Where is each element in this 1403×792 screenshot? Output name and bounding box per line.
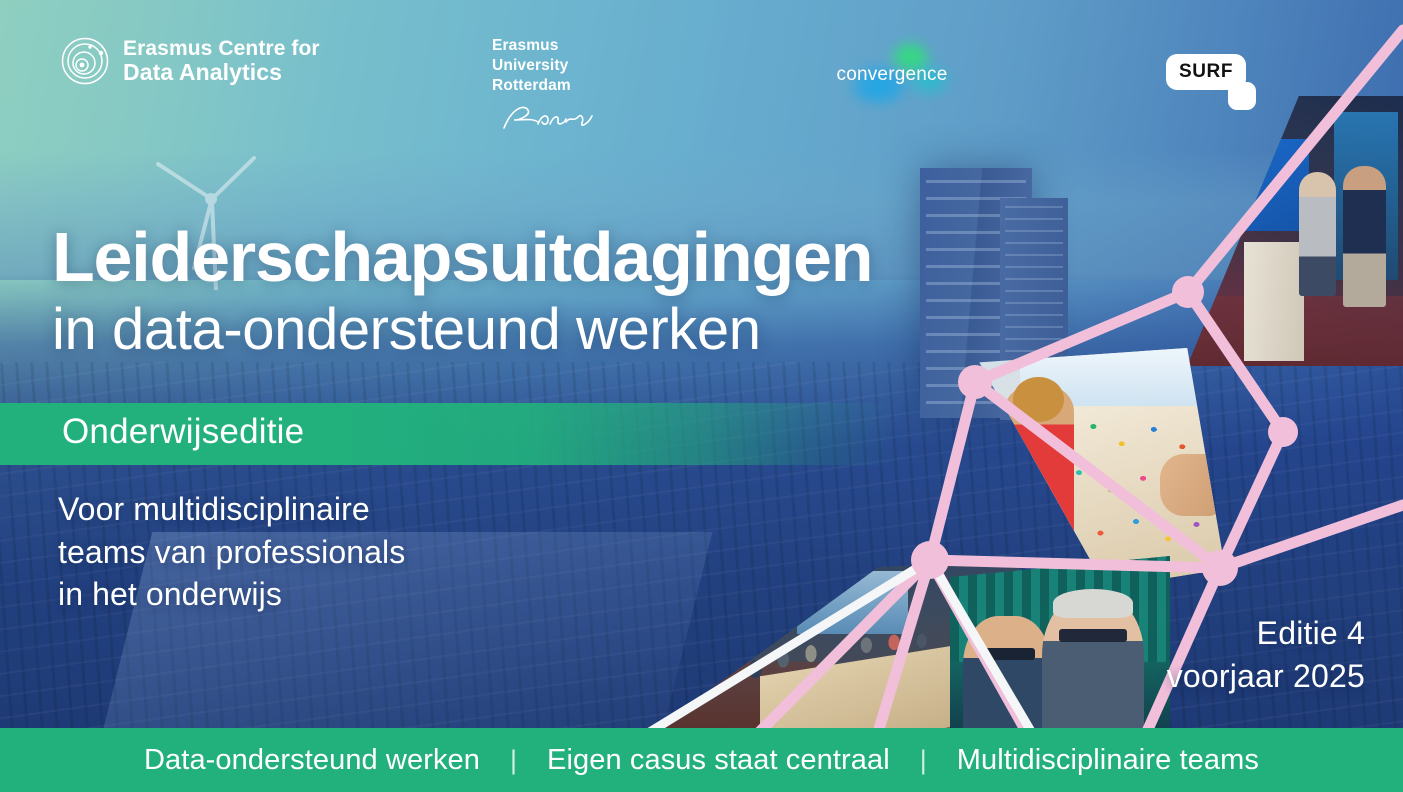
subtitle-line1: Voor multidisciplinaire	[58, 488, 405, 531]
footer-separator-1: |	[510, 745, 517, 776]
edition-line2: voorjaar 2025	[1167, 655, 1365, 698]
eur-line2: University	[492, 56, 598, 76]
photo-lego-workshop	[955, 348, 1225, 588]
ecda-line1: Erasmus Centre for	[123, 38, 320, 60]
surf-logo[interactable]: SURF	[1166, 54, 1270, 110]
subtitle-line2: teams van professionals	[58, 531, 405, 574]
headline-line1: Leiderschapsuitdagingen	[52, 222, 872, 293]
erasmus-university-logo[interactable]: Erasmus University Rotterdam	[492, 36, 598, 137]
promotional-banner: Erasmus Centre for Data Analytics Erasmu…	[0, 0, 1403, 792]
surf-wordmark: SURF	[1166, 54, 1246, 90]
eur-line3: Rotterdam	[492, 76, 598, 96]
headline-line2: in data-ondersteund werken	[52, 297, 872, 363]
photo-two-men	[950, 556, 1170, 732]
subtitle: Voor multidisciplinaire teams van profes…	[58, 488, 405, 616]
footer-item-1: Data-ondersteund werken	[144, 744, 480, 777]
headline: Leiderschapsuitdagingen in data-onderste…	[52, 222, 872, 364]
subtitle-line3: in het onderwijs	[58, 573, 405, 616]
footer-bar: Data-ondersteund werken | Eigen casus st…	[0, 728, 1403, 792]
eur-line1: Erasmus	[492, 36, 598, 56]
footer-separator-2: |	[920, 745, 927, 776]
orbit-rings-icon	[60, 36, 110, 86]
ecda-line2: Data Analytics	[123, 60, 320, 84]
ecda-logo[interactable]: Erasmus Centre for Data Analytics	[60, 36, 320, 86]
footer-item-3: Multidisciplinaire teams	[957, 744, 1259, 777]
edition-info: Editie 4 voorjaar 2025	[1167, 612, 1365, 698]
convergence-logo[interactable]: convergence	[818, 38, 966, 110]
erasmus-signature-icon	[498, 102, 598, 132]
logo-bar: Erasmus Centre for Data Analytics Erasmu…	[0, 0, 1403, 150]
convergence-wordmark: convergence	[818, 64, 966, 86]
edition-band-label: Onderwijseditie	[62, 412, 304, 452]
edition-line1: Editie 4	[1167, 612, 1365, 655]
footer-item-2: Eigen casus staat centraal	[547, 744, 890, 777]
